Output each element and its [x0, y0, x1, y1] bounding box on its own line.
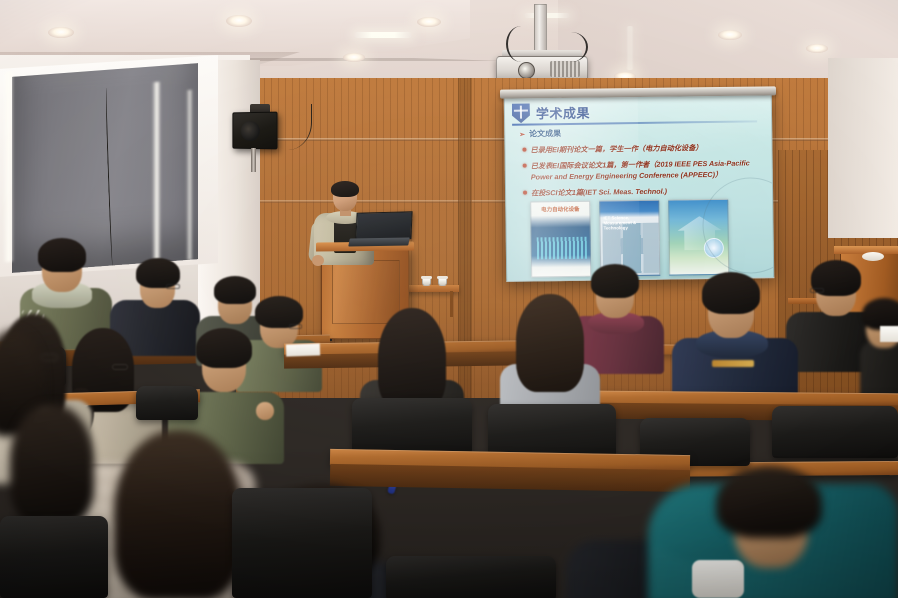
person-hair [196, 328, 252, 368]
hoodie-print [712, 360, 754, 367]
projector-lens [518, 62, 535, 79]
projector-cable [506, 26, 536, 62]
glasses-icon [289, 324, 302, 329]
teacup-lid [437, 276, 448, 279]
ceiling-strip-light [626, 26, 634, 70]
teacup [438, 278, 447, 286]
projector-vent [550, 61, 580, 77]
teacup-lid [421, 276, 432, 279]
chair-back [0, 516, 108, 598]
person-hair [591, 264, 639, 298]
teacup [422, 278, 431, 286]
presenter-hair [331, 181, 359, 197]
person-hair [378, 308, 446, 410]
slide-section-heading: ➢ 论文成果 [519, 125, 763, 139]
section-heading-text: 论文成果 [529, 128, 561, 139]
glasses-icon [112, 364, 128, 370]
bullet-dot-icon [523, 164, 527, 168]
speaker-pole [251, 148, 256, 172]
paper-on-lectern [862, 252, 884, 261]
bullet-text: 已录用EI期刊论文一篇，学生一作（电力自动化设备） [530, 142, 702, 156]
ceiling-downlight [226, 15, 252, 27]
audience-mid-center-longhair-b [500, 294, 600, 418]
person-hair [702, 272, 760, 314]
glasses-icon [810, 288, 824, 293]
bullet-dot-icon [522, 148, 526, 152]
person-hair [716, 466, 822, 538]
notebook-paper [880, 326, 898, 342]
person-hair [516, 294, 584, 392]
laptop-screen [355, 211, 412, 241]
person-hair [114, 430, 242, 598]
presenter-hand [312, 255, 324, 266]
glasses-icon [166, 284, 180, 289]
laptop-keyboard [348, 237, 410, 246]
right-white-wall [828, 58, 898, 238]
person-hair [38, 238, 86, 272]
bullet-text: 已发表EI国际会议论文1篇，第一作者（2019 IEEE PES Asia-Pa… [531, 157, 764, 183]
projector-cable [554, 32, 588, 62]
curtain-light-leak [3, 72, 14, 263]
bullet-text: 在投SCI论文1篇(IET Sci. Meas. Technol.) [531, 186, 667, 199]
ceiling-downlight [806, 44, 828, 53]
slide-title: 学术成果 [536, 103, 590, 123]
speaker-cone [241, 121, 260, 141]
journal-cover-caption: IET Science, Measurement & Technology [603, 215, 658, 231]
ceiling-downlight [343, 53, 365, 62]
curtain-light-leak [186, 90, 193, 260]
ceiling-downlight [48, 27, 74, 38]
journal-cover-caption: 电力自动化设备 [531, 205, 589, 214]
projector-mount-pole [534, 4, 547, 56]
curtain-light-leak [152, 82, 161, 265]
projection-screen: 学术成果 ➢ 论文成果 已录用EI期刊论文一篇，学生一作（电力自动化设备） 已发… [504, 92, 775, 282]
university-shield-logo [512, 103, 530, 123]
slide-bullet: 已录用EI期刊论文一篇，学生一作（电力自动化设备） [519, 141, 763, 156]
chair-back [772, 406, 898, 458]
ceiling-downlight [417, 17, 441, 27]
slide-bullet: 已发表EI国际会议论文1篇，第一作者（2019 IEEE PES Asia-Pa… [520, 157, 764, 183]
lecture-room-photo: 学术成果 ➢ 论文成果 已录用EI期刊论文一篇，学生一作（电力自动化设备） 已发… [0, 0, 898, 598]
chair-back [232, 488, 372, 598]
audience-front-teal-hoodie-head [694, 470, 834, 580]
bullet-dot-icon [523, 191, 527, 195]
chair-back [386, 556, 556, 598]
section-arrow-icon: ➢ [519, 130, 525, 138]
person-torso [860, 340, 898, 400]
speaker-icon [232, 112, 277, 150]
chair-back [352, 398, 472, 454]
ceiling-downlight [718, 30, 742, 40]
notebook-paper [286, 343, 320, 356]
audience-far-right-partial [860, 300, 898, 398]
person-hair [10, 404, 94, 524]
ceiling-strip-light [354, 32, 412, 38]
